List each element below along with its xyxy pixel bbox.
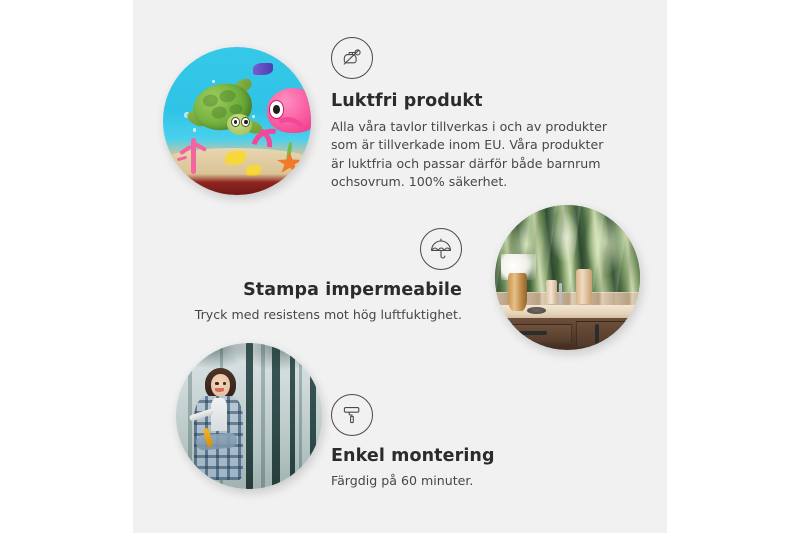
feature-title: Enkel montering: [331, 446, 591, 467]
feature-odourless: Luktfri produkt Alla våra tavlor tillver…: [331, 37, 619, 191]
bathroom-artwork: [495, 205, 640, 350]
feature-title: Luktfri produkt: [331, 91, 619, 112]
no-fragrance-spray-bottle-icon: [331, 37, 373, 79]
content-panel: Luktfri produkt Alla våra tavlor tillver…: [133, 0, 667, 533]
feature-waterproof: Stampa impermeabile Tryck med resistens …: [172, 228, 462, 324]
paint-roller-icon: [331, 394, 373, 436]
coral: [175, 133, 213, 174]
feature-body: Färgdig på 60 minuter.: [331, 472, 591, 490]
infographic-page: Luktfri produkt Alla våra tavlor tillver…: [0, 0, 800, 533]
umbrella-icon: [420, 228, 462, 270]
product-image-ocean: [163, 47, 311, 195]
feature-body: Alla våra tavlor tillverkas i och av pro…: [331, 118, 619, 191]
ocean-artwork: [163, 47, 311, 195]
feature-body: Tryck med resistens mot hög luftfuktighe…: [172, 306, 462, 324]
feature-assembly: Enkel montering Färgdig på 60 minuter.: [331, 394, 591, 490]
product-image-bathroom: [495, 205, 640, 350]
forest-artwork: [176, 343, 322, 489]
feature-title: Stampa impermeabile: [172, 280, 462, 301]
product-image-forest: [176, 343, 322, 489]
